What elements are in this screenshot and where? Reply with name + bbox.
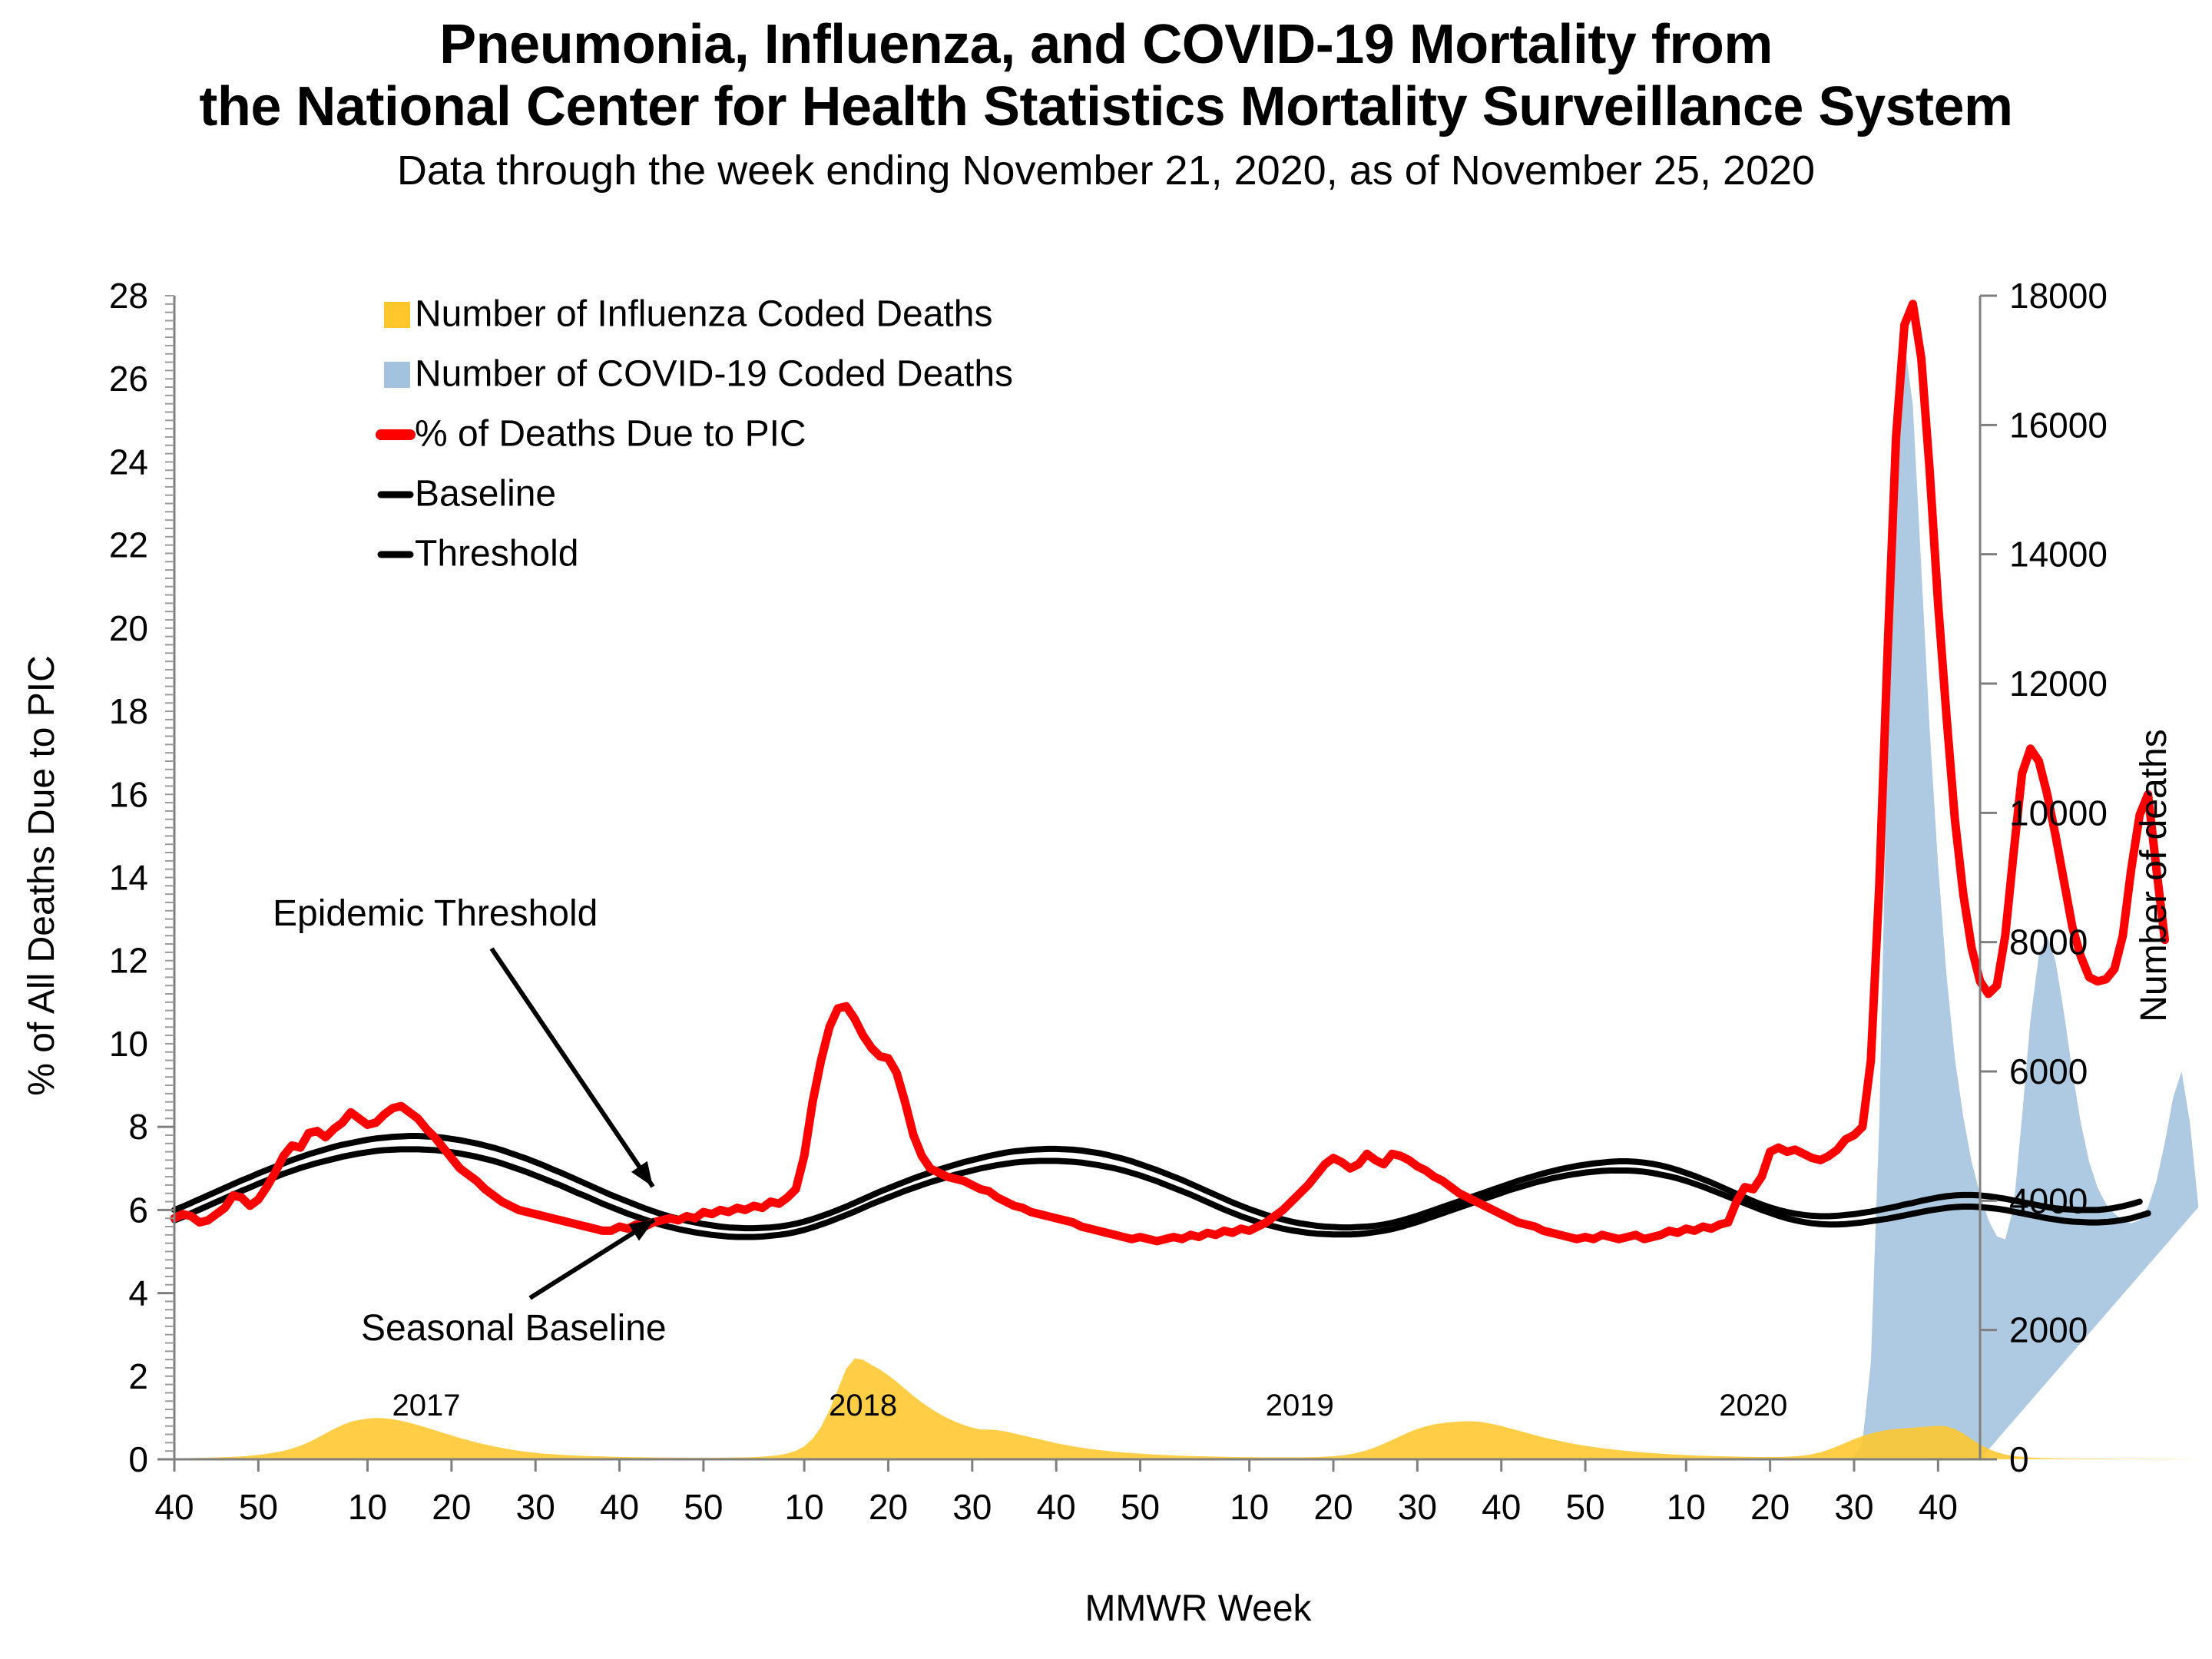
year-labels-layer: 2017201820192020 (392, 1389, 1788, 1422)
x-tick-label: 40 (1482, 1487, 1521, 1527)
legend-item-3[interactable]: Baseline (381, 474, 556, 515)
x-tick-label: 20 (1313, 1487, 1353, 1527)
x-tick-label: 30 (1834, 1487, 1873, 1527)
y-axis-right-title: Number of deaths (2134, 729, 2174, 1022)
y-tick-label-left: 22 (109, 525, 148, 565)
year-label-2017: 2017 (392, 1389, 461, 1422)
annotations-layer: Epidemic ThresholdSeasonal Baseline (273, 893, 667, 1349)
yellow-square-swatch (384, 302, 410, 328)
legend-label: Baseline (415, 474, 556, 515)
x-tick-label: 40 (600, 1487, 639, 1527)
y-tick-label-right: 6000 (2009, 1051, 2088, 1091)
y-tick-label-left: 16 (109, 774, 148, 814)
blue-square-swatch (384, 362, 410, 388)
legend-item-0[interactable]: Number of Influenza Coded Deaths (384, 294, 992, 335)
year-label-2019: 2019 (1266, 1389, 1334, 1422)
y-tick-label-left: 2 (128, 1356, 148, 1396)
legend-label: Number of Influenza Coded Deaths (415, 294, 992, 335)
year-label-2018: 2018 (829, 1389, 897, 1422)
x-tick-label: 30 (952, 1487, 992, 1527)
x-tick-label: 10 (785, 1487, 824, 1527)
x-tick-label: 20 (869, 1487, 908, 1527)
epidemic-threshold-annotation: Epidemic Threshold (273, 893, 598, 934)
epidemic-threshold-arrow-head (631, 1161, 653, 1187)
legend-label: Threshold (415, 534, 578, 575)
y-tick-label-right: 0 (2009, 1439, 2029, 1479)
x-axis-title: MMWR Week (1084, 1588, 1312, 1629)
epidemic-threshold-arrow (492, 949, 653, 1187)
y-axis-left-title: % of All Deaths Due to PIC (22, 655, 62, 1096)
x-tick-label: 50 (1121, 1487, 1160, 1527)
y-tick-label-left: 0 (128, 1439, 148, 1479)
legend-label: % of Deaths Due to PIC (415, 414, 806, 455)
x-tick-label: 30 (516, 1487, 555, 1527)
x-tick-label: 20 (1750, 1487, 1790, 1527)
x-tick-label: 50 (1565, 1487, 1604, 1527)
y-tick-label-left: 18 (109, 691, 148, 731)
x-tick-label: 30 (1398, 1487, 1437, 1527)
y-tick-label-right: 8000 (2009, 922, 2088, 962)
x-tick-label: 40 (1919, 1487, 1958, 1527)
x-tick-label: 40 (1037, 1487, 1076, 1527)
seasonal-baseline-annotation: Seasonal Baseline (361, 1308, 667, 1349)
y-tick-label-left: 28 (109, 276, 148, 316)
y-tick-label-right: 14000 (2009, 535, 2108, 575)
y-tick-label-left: 14 (109, 858, 148, 898)
y-tick-label-right: 18000 (2009, 276, 2108, 316)
y-tick-label-left: 6 (128, 1190, 148, 1230)
x-tick-label: 10 (1230, 1487, 1269, 1527)
x-tick-label: 10 (1667, 1487, 1706, 1527)
y-tick-label-left: 10 (109, 1024, 148, 1064)
legend-item-1[interactable]: Number of COVID-19 Coded Deaths (384, 354, 1013, 395)
legend-label: Number of COVID-19 Coded Deaths (415, 354, 1013, 395)
y-tick-label-left: 24 (109, 442, 148, 482)
y-tick-label-right: 2000 (2009, 1310, 2088, 1350)
legend: Number of Influenza Coded DeathsNumber o… (381, 294, 1013, 575)
x-tick-label: 50 (684, 1487, 723, 1527)
y-tick-label-right: 10000 (2009, 793, 2108, 833)
x-tick-label: 40 (154, 1487, 194, 1527)
y-tick-label-left: 12 (109, 941, 148, 981)
y-tick-label-left: 26 (109, 359, 148, 399)
y-tick-label-left: 8 (128, 1107, 148, 1147)
y-tick-label-left: 4 (128, 1273, 148, 1313)
y-tick-label-right: 16000 (2009, 405, 2108, 445)
y-tick-label-right: 12000 (2009, 664, 2108, 704)
x-tick-label: 10 (348, 1487, 387, 1527)
y-tick-label-left: 20 (109, 608, 148, 648)
legend-item-2[interactable]: % of Deaths Due to PIC (381, 414, 806, 455)
year-label-2020: 2020 (1719, 1389, 1787, 1422)
legend-item-4[interactable]: Threshold (381, 534, 578, 575)
mortality-surveillance-chart: 0246810121416182022242628020004000600080… (0, 0, 2212, 1659)
series-baseline (174, 1149, 2148, 1237)
y-tick-label-right: 4000 (2009, 1181, 2088, 1220)
x-tick-label: 20 (432, 1487, 471, 1527)
x-tick-label: 50 (239, 1487, 278, 1527)
